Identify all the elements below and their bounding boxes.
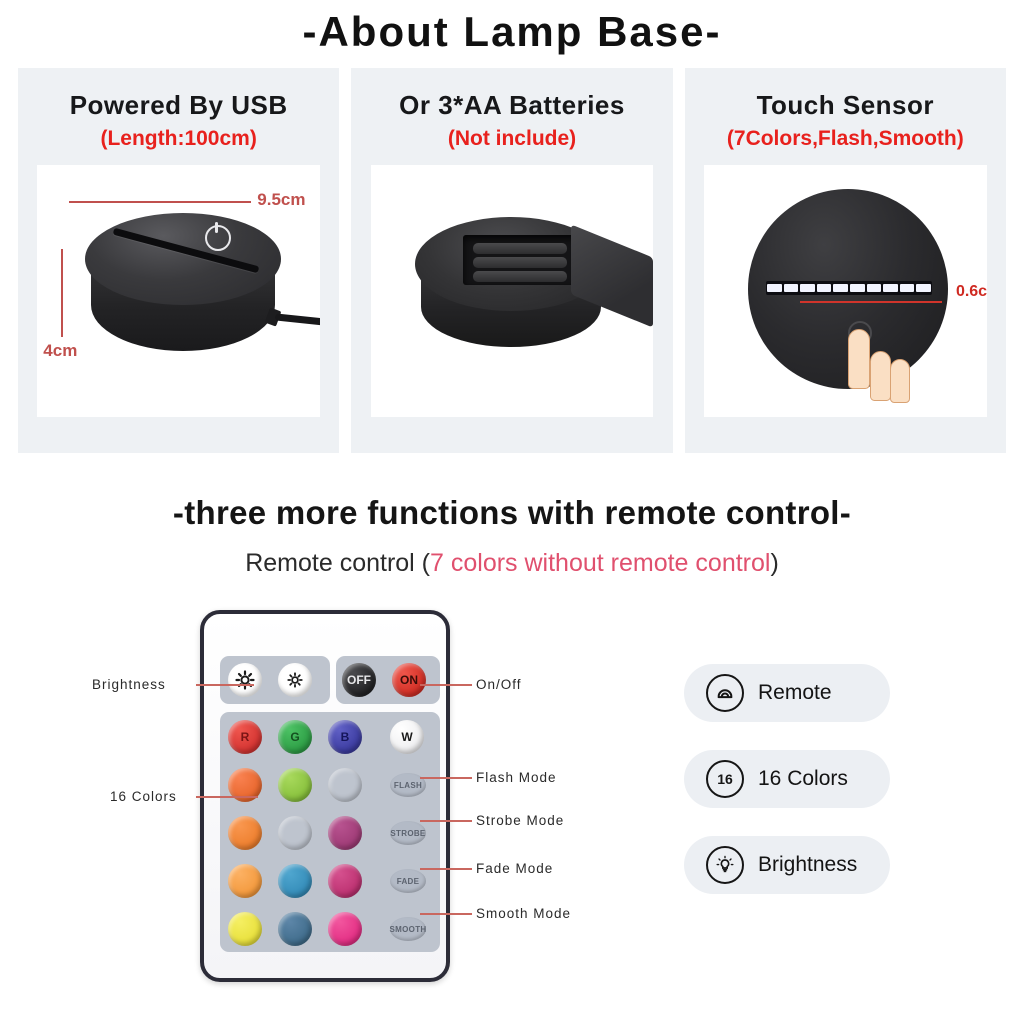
callout-smooth-mode: Smooth Mode [476, 906, 571, 921]
brightness-up-icon [235, 670, 255, 690]
panel-image-battery-base [371, 165, 654, 417]
callout-flash-line [420, 777, 472, 779]
panel-subtitle: (7Colors,Flash,Smooth) [727, 127, 964, 151]
acrylic-slot [113, 228, 260, 274]
feature-pill-list: Remote 16 16 Colors Brightness [684, 664, 890, 922]
led-segment [833, 284, 848, 292]
aa-battery [473, 243, 567, 254]
pill-label: Remote [758, 681, 832, 705]
pill-label: Brightness [758, 853, 857, 877]
pill-16-colors[interactable]: 16 16 Colors [684, 750, 890, 808]
led-segment [900, 284, 915, 292]
aa-battery [473, 257, 567, 268]
pill-brightness[interactable]: Brightness [684, 836, 890, 894]
smooth-mode-button[interactable]: SMOOTH [390, 917, 426, 941]
strip-length-line [800, 301, 942, 303]
callout-onoff-line [420, 684, 472, 686]
color-button-amber[interactable] [228, 864, 262, 898]
panel-aa-batteries: Or 3*AA Batteries (Not include) [351, 68, 672, 453]
index-finger [848, 329, 870, 389]
panel-image-touch-sensor: 8.2cm 0.6cm [704, 165, 987, 417]
feature-panels: Powered By USB (Length:100cm) 9.5cm 4cm … [18, 68, 1006, 453]
led-strip [766, 281, 932, 295]
usb-lamp-base-illustration [85, 213, 281, 363]
page-title: -About Lamp Base- [0, 8, 1024, 56]
power-on-button[interactable]: ON [392, 663, 426, 697]
sixteen-text: 16 [717, 771, 733, 787]
callout-fade-mode: Fade Mode [476, 861, 553, 876]
battery-base-illustration [411, 215, 631, 365]
remote-signal-glyph [715, 683, 735, 703]
led-segment [883, 284, 898, 292]
color-button-blue[interactable]: B [328, 720, 362, 754]
callout-strobe-mode: Strobe Mode [476, 813, 564, 828]
callout-smooth-line [420, 913, 472, 915]
strip-height-label: 0.6cm [956, 283, 987, 301]
remote-section-subtitle: Remote control (7 colors without remote … [0, 549, 1024, 578]
subtitle-highlight: 7 colors without remote control [430, 549, 770, 577]
color-button-orange-2[interactable] [228, 816, 262, 850]
touch-sensor-illustration: 8.2cm 0.6cm [748, 189, 963, 394]
ring-finger [890, 359, 910, 403]
led-segment [800, 284, 815, 292]
aa-battery [473, 271, 567, 282]
callout-on-off: On/Off [476, 677, 522, 692]
subtitle-lead: Remote control ( [245, 549, 430, 577]
hand-pointing-illustration [840, 329, 918, 401]
callout-brightness: Brightness [92, 677, 166, 692]
height-dimension-label: 4cm [43, 341, 77, 361]
fade-mode-button[interactable]: FADE [390, 869, 426, 893]
panel-title: Or 3*AA Batteries [399, 90, 625, 121]
width-dimension-line [69, 201, 251, 203]
callout-strobe-line [420, 820, 472, 822]
width-dimension-label: 9.5cm [257, 190, 305, 210]
panel-image-usb-base: 9.5cm 4cm [37, 165, 320, 417]
callout-16-colors-line [196, 796, 258, 798]
color-button-cyan[interactable] [278, 816, 312, 850]
color-button-green[interactable]: G [278, 720, 312, 754]
led-segment [867, 284, 882, 292]
pill-remote[interactable]: Remote [684, 664, 890, 722]
power-symbol-icon [205, 225, 231, 251]
color-button-white[interactable]: W [390, 720, 424, 754]
brightness-up-button[interactable] [228, 663, 262, 697]
usb-cable [275, 313, 320, 327]
led-segment [784, 284, 799, 292]
led-segment [817, 284, 832, 292]
bulb-glyph [715, 855, 735, 875]
base-top-disc [85, 213, 281, 305]
panel-subtitle: (Not include) [448, 127, 576, 151]
remote-signal-icon [706, 674, 744, 712]
brightness-down-button[interactable] [278, 663, 312, 697]
middle-finger [870, 351, 891, 401]
color-button-yellow[interactable] [228, 912, 262, 946]
remote-section-title: -three more functions with remote contro… [0, 494, 1024, 532]
strobe-mode-button[interactable]: STROBE [390, 821, 426, 845]
callout-fade-line [420, 868, 472, 870]
color-button-lime[interactable] [278, 768, 312, 802]
color-button-pink[interactable] [328, 912, 362, 946]
color-button-purple[interactable] [328, 816, 362, 850]
power-off-button[interactable]: OFF [342, 663, 376, 697]
color-button-blue-2[interactable] [328, 768, 362, 802]
color-button-magenta[interactable] [328, 864, 362, 898]
color-button-azure[interactable] [278, 864, 312, 898]
callout-brightness-line [196, 684, 254, 686]
battery-compartment [463, 235, 579, 285]
sixteen-circle-icon: 16 [706, 760, 744, 798]
led-segment [916, 284, 931, 292]
callout-flash-mode: Flash Mode [476, 770, 557, 785]
brightness-down-icon [286, 671, 304, 689]
color-button-red[interactable]: R [228, 720, 262, 754]
panel-subtitle: (Length:100cm) [100, 127, 256, 151]
bulb-icon [706, 846, 744, 884]
panel-powered-by-usb: Powered By USB (Length:100cm) 9.5cm 4cm [18, 68, 339, 453]
height-dimension-line [61, 249, 63, 337]
pill-label: 16 Colors [758, 767, 848, 791]
subtitle-tail: ) [770, 549, 778, 577]
panel-title: Powered By USB [70, 90, 288, 121]
led-segment [850, 284, 865, 292]
color-button-steel-blue[interactable] [278, 912, 312, 946]
led-segment [767, 284, 782, 292]
panel-touch-sensor: Touch Sensor (7Colors,Flash,Smooth) 8.2c… [685, 68, 1006, 453]
panel-title: Touch Sensor [757, 90, 934, 121]
callout-16-colors: 16 Colors [110, 789, 177, 804]
